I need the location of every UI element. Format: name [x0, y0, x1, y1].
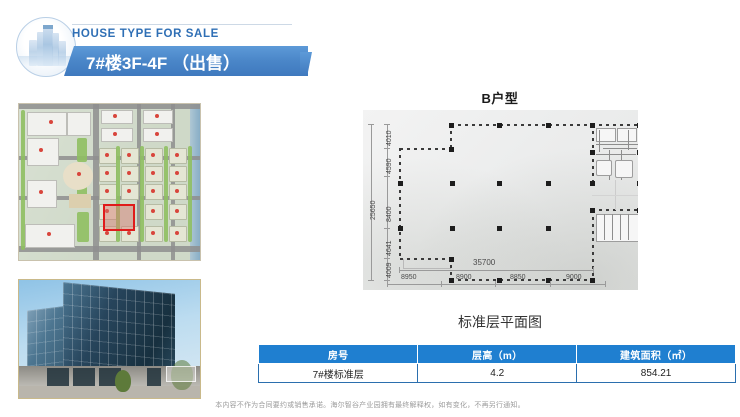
- plan-column: [590, 150, 595, 155]
- siteplan-marker: [175, 231, 179, 235]
- plan-wall: [451, 124, 593, 126]
- siteplan-marker: [151, 231, 155, 235]
- plan-column: [546, 181, 551, 186]
- plan-column: [398, 226, 403, 231]
- dim-left-3: 8400: [386, 206, 393, 222]
- dim-tick: [384, 176, 390, 177]
- siteplan-marker: [151, 209, 155, 213]
- plan-column: [449, 147, 454, 152]
- highlighted-building-7: [103, 204, 135, 231]
- title-bar-tail: [300, 52, 312, 76]
- floor-plan-caption: 标准层平面图: [355, 312, 645, 332]
- siteplan-block: [25, 224, 75, 248]
- plan-column: [449, 123, 454, 128]
- plan-column: [637, 181, 638, 186]
- plan-column: [546, 226, 551, 231]
- photo-podium-window: [73, 368, 95, 386]
- dim-bottom-3: 8850: [510, 274, 526, 281]
- floor-plan-drawing: 25650 4010 4590 8400 4641 4009 35700 895…: [363, 110, 638, 290]
- plan-core-line: [599, 130, 600, 152]
- plan-column: [637, 208, 638, 213]
- dim-overall-width: 35700: [473, 258, 495, 267]
- siteplan-marker: [105, 153, 109, 157]
- plan-column: [497, 123, 502, 128]
- plan-stair-step: [628, 214, 629, 240]
- dim-overall-height: 25650: [370, 201, 377, 220]
- plan-wall: [400, 148, 452, 150]
- table-header-room-no: 房号: [259, 345, 418, 364]
- site-master-plan: [18, 103, 201, 261]
- dim-tick: [605, 281, 606, 287]
- dim-tick: [399, 267, 400, 273]
- siteplan-marker: [175, 189, 179, 193]
- siteplan-block: [27, 138, 59, 166]
- siteplan-greenery: [188, 146, 192, 242]
- siteplan-block: [27, 112, 67, 136]
- plan-column: [450, 226, 455, 231]
- siteplan-greenery: [164, 146, 168, 242]
- siteplan-marker: [175, 209, 179, 213]
- dim-tick: [441, 281, 442, 287]
- siteplan-paving: [69, 194, 91, 208]
- plan-column: [590, 208, 595, 213]
- dim-tick: [384, 228, 390, 229]
- siteplan-marker: [105, 231, 109, 235]
- siteplan-marker: [155, 114, 159, 118]
- dim-bottom-4: 9000: [566, 274, 582, 281]
- logo-building-1: [29, 40, 37, 66]
- plan-column: [590, 181, 595, 186]
- unit-info-table: 房号 层高（m） 建筑面积（㎡） 7#楼标准层 4.2 854.21: [258, 344, 736, 383]
- dim-tick: [550, 281, 551, 287]
- footer-disclaimer: 本内容不作为合同要约或销售承诺。海尔智谷产业园拥有最终解释权，如有变化，不再另行…: [0, 400, 740, 410]
- siteplan-block: [67, 112, 91, 136]
- siteplan-marker: [127, 189, 131, 193]
- plan-elevator: [615, 160, 633, 178]
- table-header-area: 建筑面积（㎡）: [577, 345, 736, 364]
- table-head: 房号 层高（m） 建筑面积（㎡）: [259, 345, 736, 364]
- siteplan-marker: [127, 231, 131, 235]
- siteplan-greenery: [77, 138, 87, 162]
- plan-bottom-dimensions: 35700 8950 8900 8850 9000: [363, 254, 638, 290]
- photo-ground: [19, 386, 200, 398]
- plan-column: [546, 123, 551, 128]
- siteplan-marker: [39, 190, 43, 194]
- unit-type-title: B户型: [355, 88, 645, 107]
- dim-bottom-2: 8900: [456, 274, 472, 281]
- plan-elevator: [596, 160, 612, 176]
- cell-room-no: 7#楼标准层: [259, 364, 418, 383]
- plan-column: [398, 181, 403, 186]
- siteplan-marker: [151, 171, 155, 175]
- dim-tick: [384, 124, 390, 125]
- plan-core-line: [628, 130, 629, 150]
- dim-tick: [384, 148, 390, 149]
- photo-tree: [115, 370, 131, 392]
- logo-building-5: [58, 41, 66, 66]
- cell-floor-height: 4.2: [418, 364, 577, 383]
- plan-stair: [596, 214, 638, 242]
- siteplan-marker: [105, 189, 109, 193]
- header-eyebrow: HOUSE TYPE FOR SALE: [72, 24, 292, 40]
- plan-wall: [592, 124, 638, 126]
- dim-bottom-1: 8950: [401, 274, 417, 281]
- siteplan-block: [101, 128, 133, 142]
- siteplan-marker: [113, 114, 117, 118]
- siteplan-marker: [127, 171, 131, 175]
- plan-column: [637, 123, 638, 128]
- dim-tick: [368, 124, 374, 125]
- siteplan-marker: [151, 189, 155, 193]
- dim-tick: [495, 281, 496, 287]
- plan-stair-step: [612, 214, 613, 240]
- plan-core-line: [603, 148, 637, 149]
- siteplan-greenery: [77, 212, 89, 242]
- siteplan-plaza: [63, 162, 93, 190]
- dim-left-1: 4010: [386, 130, 393, 146]
- plan-core-room: [617, 128, 637, 142]
- plan-wall: [399, 148, 401, 260]
- table-header-row: 房号 层高（m） 建筑面积（㎡）: [259, 345, 736, 364]
- siteplan-marker: [113, 132, 117, 136]
- plan-stair-step: [604, 214, 605, 240]
- dim-overall-h-line: [399, 270, 593, 271]
- siteplan-greenery: [21, 110, 25, 250]
- siteplan-marker: [151, 153, 155, 157]
- page-header: HOUSE TYPE FOR SALE 7#楼3F-4F （出售）: [0, 0, 740, 88]
- office-building-exterior-photo: [18, 279, 201, 399]
- dim-segment-h-line: [387, 284, 605, 285]
- dim-tick: [593, 267, 594, 273]
- siteplan-marker: [175, 153, 179, 157]
- plan-stair-step: [620, 214, 621, 240]
- plan-column: [497, 181, 502, 186]
- siteplan-marker: [77, 172, 81, 176]
- siteplan-marker: [49, 120, 53, 124]
- photo-watermark: [166, 366, 196, 382]
- dim-tick: [387, 281, 388, 287]
- siteplan-marker: [105, 171, 109, 175]
- plan-column: [637, 150, 638, 155]
- plan-guide-line: [592, 195, 638, 196]
- plan-core-line: [596, 154, 636, 155]
- photo-podium-window: [147, 368, 161, 386]
- table-body: 7#楼标准层 4.2 854.21: [259, 364, 736, 383]
- siteplan-marker: [127, 153, 131, 157]
- cell-area: 854.21: [577, 364, 736, 383]
- siteplan-block: [27, 180, 57, 208]
- siteplan-marker: [175, 171, 179, 175]
- plan-column: [497, 226, 502, 231]
- logo-building-cap: [43, 25, 53, 29]
- plan-core-line: [596, 144, 638, 145]
- siteplan-marker: [47, 232, 51, 236]
- siteplan-marker: [155, 132, 159, 136]
- siteplan-marker: [39, 148, 43, 152]
- plan-column: [590, 123, 595, 128]
- page-title: 7#楼3F-4F （出售）: [64, 46, 308, 76]
- table-header-floor-height: 层高（m）: [418, 345, 577, 364]
- plan-column: [450, 181, 455, 186]
- photo-podium-window: [47, 368, 69, 386]
- siteplan-greenery: [140, 146, 144, 242]
- siteplan-block: [101, 110, 133, 124]
- dim-left-2: 4590: [386, 158, 393, 174]
- table-row: 7#楼标准层 4.2 854.21: [259, 364, 736, 383]
